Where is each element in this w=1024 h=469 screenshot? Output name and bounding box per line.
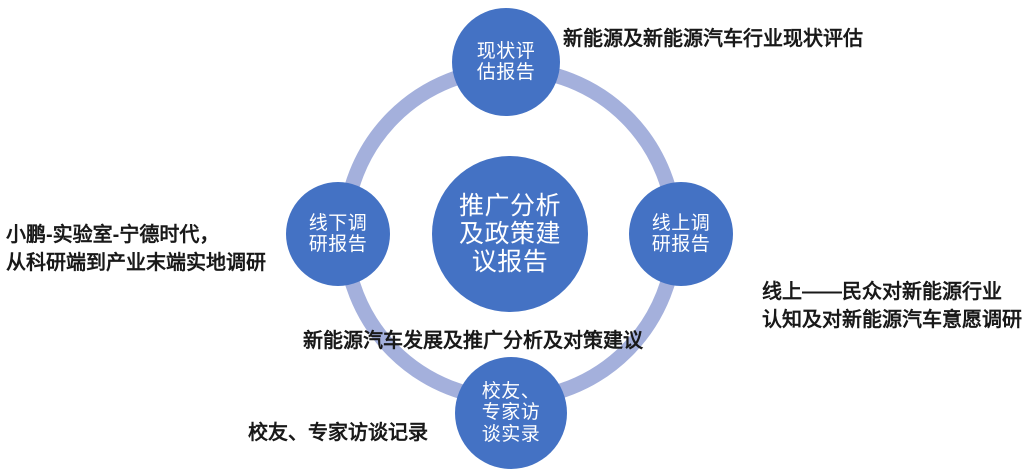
caption-bottom-left: 校友、专家访谈记录 <box>248 420 428 448</box>
node-top-label: 现状评 估报告 <box>452 41 560 84</box>
node-left-offline-survey-report[interactable]: 线下调 研报告 <box>286 182 390 286</box>
node-bottom-alumni-expert-interview[interactable]: 校友、 专家访 谈实录 <box>455 357 567 469</box>
caption-top-right: 新能源及新能源汽车行业现状评估 <box>563 26 863 54</box>
node-left-label: 线下调 研报告 <box>286 213 390 256</box>
caption-left: 小鹏-实验室-宁德时代， 从科研端到产业末端实地调研 <box>6 222 266 277</box>
node-bottom-label: 校友、 专家访 谈实录 <box>455 381 567 445</box>
node-top-current-status-report[interactable]: 现状评 估报告 <box>452 8 560 116</box>
caption-middle: 新能源汽车发展及推广分析及对策建议 <box>303 328 643 356</box>
node-right-online-survey-report[interactable]: 线上调 研报告 <box>629 182 733 286</box>
center-node-label: 推广分析 及政策建 议报告 <box>432 192 588 276</box>
center-node[interactable]: 推广分析 及政策建 议报告 <box>432 156 588 312</box>
node-right-label: 线上调 研报告 <box>629 213 733 256</box>
diagram-canvas: 推广分析 及政策建 议报告 现状评 估报告 线上调 研报告 校友、 专家访 谈实… <box>0 0 1024 469</box>
caption-right: 线上——民众对新能源行业 认知及对新能源汽车意愿调研 <box>762 279 1022 334</box>
